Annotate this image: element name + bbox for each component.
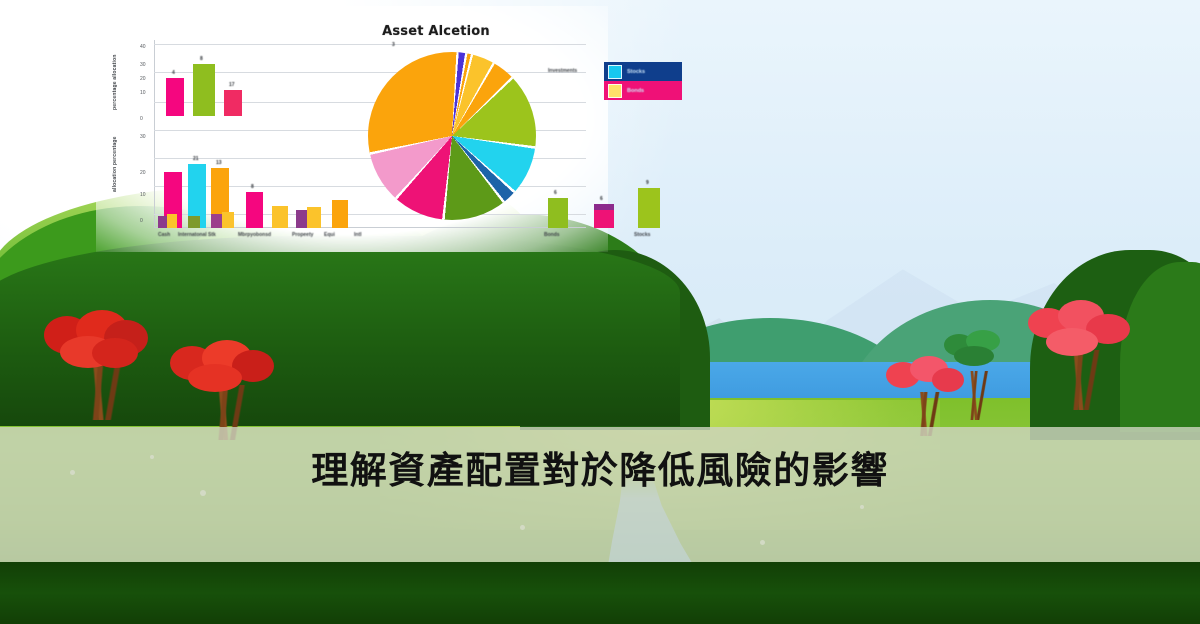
bar-bottom-13 [222, 212, 234, 228]
legend-swatch-stocks [608, 65, 622, 79]
bar-bottom-6 [296, 210, 307, 228]
blossom [1046, 328, 1098, 356]
bar-top-3 [224, 90, 242, 116]
x-tick: Equi [324, 232, 335, 238]
bar-value-label: 4 [172, 70, 175, 76]
y-tick: 40 [140, 44, 146, 50]
bar-bottom-5 [272, 206, 288, 228]
bar-value-label: 8 [251, 184, 254, 190]
bar-bottom-11 [188, 216, 200, 228]
bar-value-label: 6 [554, 190, 557, 196]
bar-value-label: 13 [216, 160, 222, 166]
bar-right-1 [548, 198, 568, 228]
legend-swatch-bonds [608, 84, 622, 98]
bar-value-label: 9 [646, 180, 649, 186]
bar-bottom-10 [167, 214, 177, 228]
y-tick: 0 [140, 218, 143, 224]
palm-tree-right [940, 330, 1010, 420]
x-tick: Cash [158, 232, 170, 238]
y-tick: 20 [140, 76, 146, 82]
legend-item-bonds[interactable]: Bonds [604, 81, 682, 100]
y-tick: 30 [140, 62, 146, 68]
tree-trunk [1044, 350, 1116, 411]
blossom [92, 338, 138, 368]
legend-item-stocks[interactable]: Stocks [604, 62, 682, 81]
y-axis-label-bottom: allocation percentage [112, 126, 118, 192]
chart-figure: Asset Alcetion percentage allocation all… [96, 6, 608, 252]
bar-top-1 [166, 78, 184, 116]
bar-right-3 [638, 188, 660, 228]
bar-value-label: 6 [600, 196, 603, 202]
bar-bottom-8 [332, 200, 348, 228]
x-tick: Intl [354, 232, 362, 238]
tree-trunk [954, 371, 996, 421]
flamboyant-tree-left-2 [160, 340, 290, 440]
bottom-dark-band [0, 562, 1200, 624]
chart-legend: Stocks Bonds [604, 62, 682, 100]
y-tick: 30 [140, 134, 146, 140]
bar-value-label: 21 [193, 156, 199, 162]
bar-value-label: 17 [229, 82, 235, 88]
y-axis-line [154, 40, 155, 228]
bar-value-label: 8 [200, 56, 203, 62]
chart-title: Asset Alcetion [346, 24, 526, 39]
pie-callout-investments: Investments [548, 68, 577, 74]
caption-title: 理解資產配置對於降低風險的影響 [0, 451, 1200, 492]
x-tick-right-2: Stocks [634, 232, 650, 238]
blossom [188, 364, 242, 392]
palm-frond [954, 346, 994, 366]
tree-trunk [58, 360, 142, 421]
legend-label-stocks: Stocks [627, 69, 645, 75]
x-tick-right-1: Bonds [544, 232, 560, 238]
flamboyant-tree-left [30, 310, 170, 420]
y-tick: 0 [140, 116, 143, 122]
x-tick: Mbrpyobonsd [238, 232, 271, 238]
bar-top-2 [193, 64, 215, 116]
pie-slice-separators [368, 52, 536, 220]
y-tick: 20 [140, 170, 146, 176]
pie-top-value-label: 3 [392, 42, 395, 48]
legend-label-bonds: Bonds [627, 88, 644, 94]
bar-bottom-7 [307, 207, 321, 228]
y-axis-label-top: percentage allocation [112, 48, 118, 110]
bar-bottom-4 [246, 192, 263, 228]
gridline [154, 44, 586, 45]
x-tick: Internatonal Stk [178, 232, 216, 238]
bar-right-2-cap [594, 204, 614, 210]
slide-canvas: Asset Alcetion percentage allocation all… [0, 0, 1200, 624]
pie-chart [368, 52, 536, 220]
caption-overlay-band [0, 427, 1200, 562]
bar-bottom-9 [158, 216, 167, 228]
y-tick: 10 [140, 90, 146, 96]
flamboyant-tree-right [1020, 300, 1140, 410]
bar-bottom-12 [211, 214, 222, 228]
x-tick: Propeety [292, 232, 313, 238]
y-tick: 10 [140, 192, 146, 198]
